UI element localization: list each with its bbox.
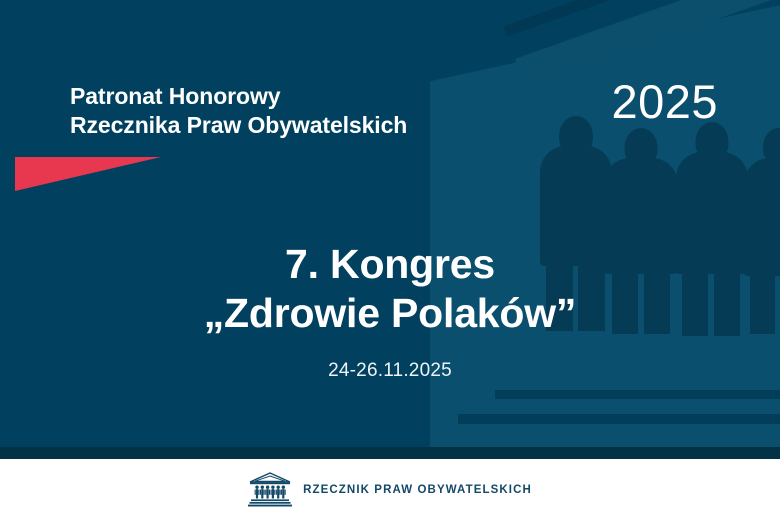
title-line-1: 7. Kongres <box>0 240 780 289</box>
patronage-line-2: Rzecznika Praw Obywatelskich <box>70 111 407 140</box>
poster-canvas: Patronat Honorowy Rzecznika Praw Obywate… <box>0 0 780 520</box>
footer-bar: RZECZNIK PRAW OBYWATELSKICH <box>0 459 780 520</box>
classical-building-icon <box>248 472 292 508</box>
red-triangle-flag-icon <box>15 157 161 191</box>
year-label: 2025 <box>611 78 718 125</box>
page-title: 7. Kongres „Zdrowie Polaków” <box>0 240 780 338</box>
patronage-heading: Patronat Honorowy Rzecznika Praw Obywate… <box>70 82 407 141</box>
footer-logo-text: RZECZNIK PRAW OBYWATELSKICH <box>303 484 532 496</box>
patronage-line-1: Patronat Honorowy <box>70 82 407 111</box>
title-line-2: „Zdrowie Polaków” <box>0 289 780 338</box>
event-date: 24-26.11.2025 <box>0 360 780 382</box>
content-layer: Patronat Honorowy Rzecznika Praw Obywate… <box>0 0 780 520</box>
